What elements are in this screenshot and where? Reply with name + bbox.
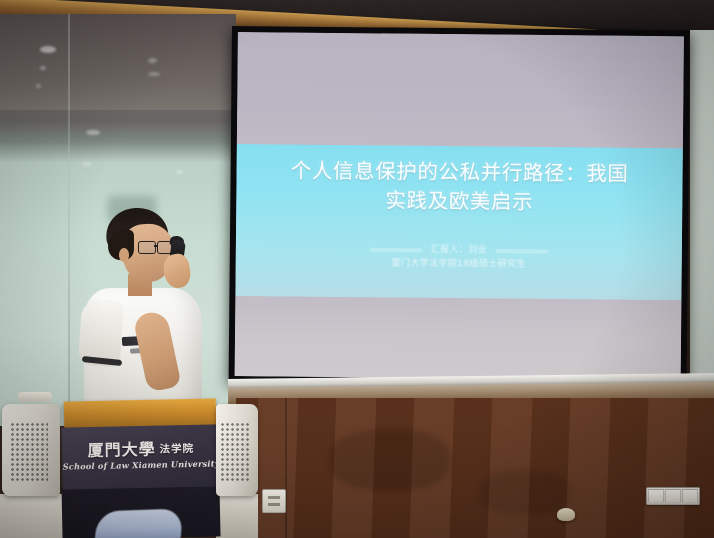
speaker-grille	[10, 422, 48, 482]
wall-panel-seam	[285, 398, 287, 538]
glass-reflection	[40, 46, 56, 53]
lecture-hall-photo: 个人信息保护的公私并行路径：我国 实践及欧美启示 汇报人：刘业 厦门大学法学院1…	[0, 0, 714, 538]
light-switch[interactable]	[665, 489, 681, 503]
wood-grain	[330, 430, 450, 490]
glass-reflection	[86, 130, 100, 135]
slide-title: 个人信息保护的公私并行路径：我国 实践及欧美启示	[236, 156, 683, 218]
presenter	[78, 208, 210, 420]
lectern-name-cn-sub: 法学院	[159, 443, 194, 456]
glass-wall-upper-band	[0, 14, 236, 110]
laptop-on-lectern[interactable]	[95, 508, 184, 538]
light-switch[interactable]	[648, 489, 664, 503]
glass-reflection	[148, 58, 157, 63]
lectern-right-column	[216, 494, 258, 538]
presenter-hand	[162, 252, 192, 289]
projection-screen-frame: 个人信息保护的公私并行路径：我国 实践及欧美启示 汇报人：刘业 厦门大学法学院1…	[229, 26, 690, 386]
lectern-name-cn: 厦門大學法学院	[62, 434, 220, 461]
outlet-slot	[268, 496, 280, 499]
glass-reflection	[82, 162, 92, 166]
lectern-speaker-right	[216, 404, 258, 496]
outlet-slot	[268, 503, 280, 506]
slide-presenter-name: 汇报人：刘业	[431, 243, 488, 258]
slide-title-line-1: 个人信息保护的公私并行路径：我国	[236, 156, 682, 189]
projection-screen: 个人信息保护的公私并行路径：我国 实践及欧美启示 汇报人：刘业 厦门大学法学院1…	[235, 32, 684, 380]
lectern-nameplate: 厦門大學法学院 School of Law Xiamen University	[61, 424, 220, 489]
glass-reflection	[36, 84, 41, 88]
lectern-gooseneck-mic	[18, 392, 52, 402]
lectern: 厦門大學法学院 School of Law Xiamen University	[0, 398, 248, 538]
lectern-name-cn-main: 厦門大學	[87, 440, 155, 460]
lectern-name-en: School of Law Xiamen University	[62, 458, 220, 471]
glass-reflection	[176, 170, 183, 174]
light-switch[interactable]	[682, 489, 698, 503]
glass-reflection	[40, 66, 46, 70]
light-switch-plate[interactable]	[646, 487, 700, 505]
door-handle[interactable]	[557, 508, 575, 521]
lectern-left-column	[0, 494, 64, 538]
presenter-ear	[119, 248, 129, 262]
lectern-speaker-left	[2, 404, 60, 496]
slide-background-bottom	[235, 296, 682, 380]
decorative-line-right	[496, 248, 548, 253]
glass-reflection	[148, 72, 160, 76]
power-outlet[interactable]	[262, 489, 286, 513]
speaker-grille	[220, 422, 250, 482]
decorative-line-left	[370, 247, 422, 252]
eyeglass-lens	[138, 241, 156, 254]
slide-title-line-2: 实践及欧美启示	[236, 185, 682, 218]
slide-background-top	[237, 32, 684, 148]
right-wall-strip	[690, 30, 714, 400]
slide-subtitle: 汇报人：刘业 厦门大学法学院18级硕士研究生	[236, 241, 682, 273]
wood-grain	[480, 470, 570, 514]
